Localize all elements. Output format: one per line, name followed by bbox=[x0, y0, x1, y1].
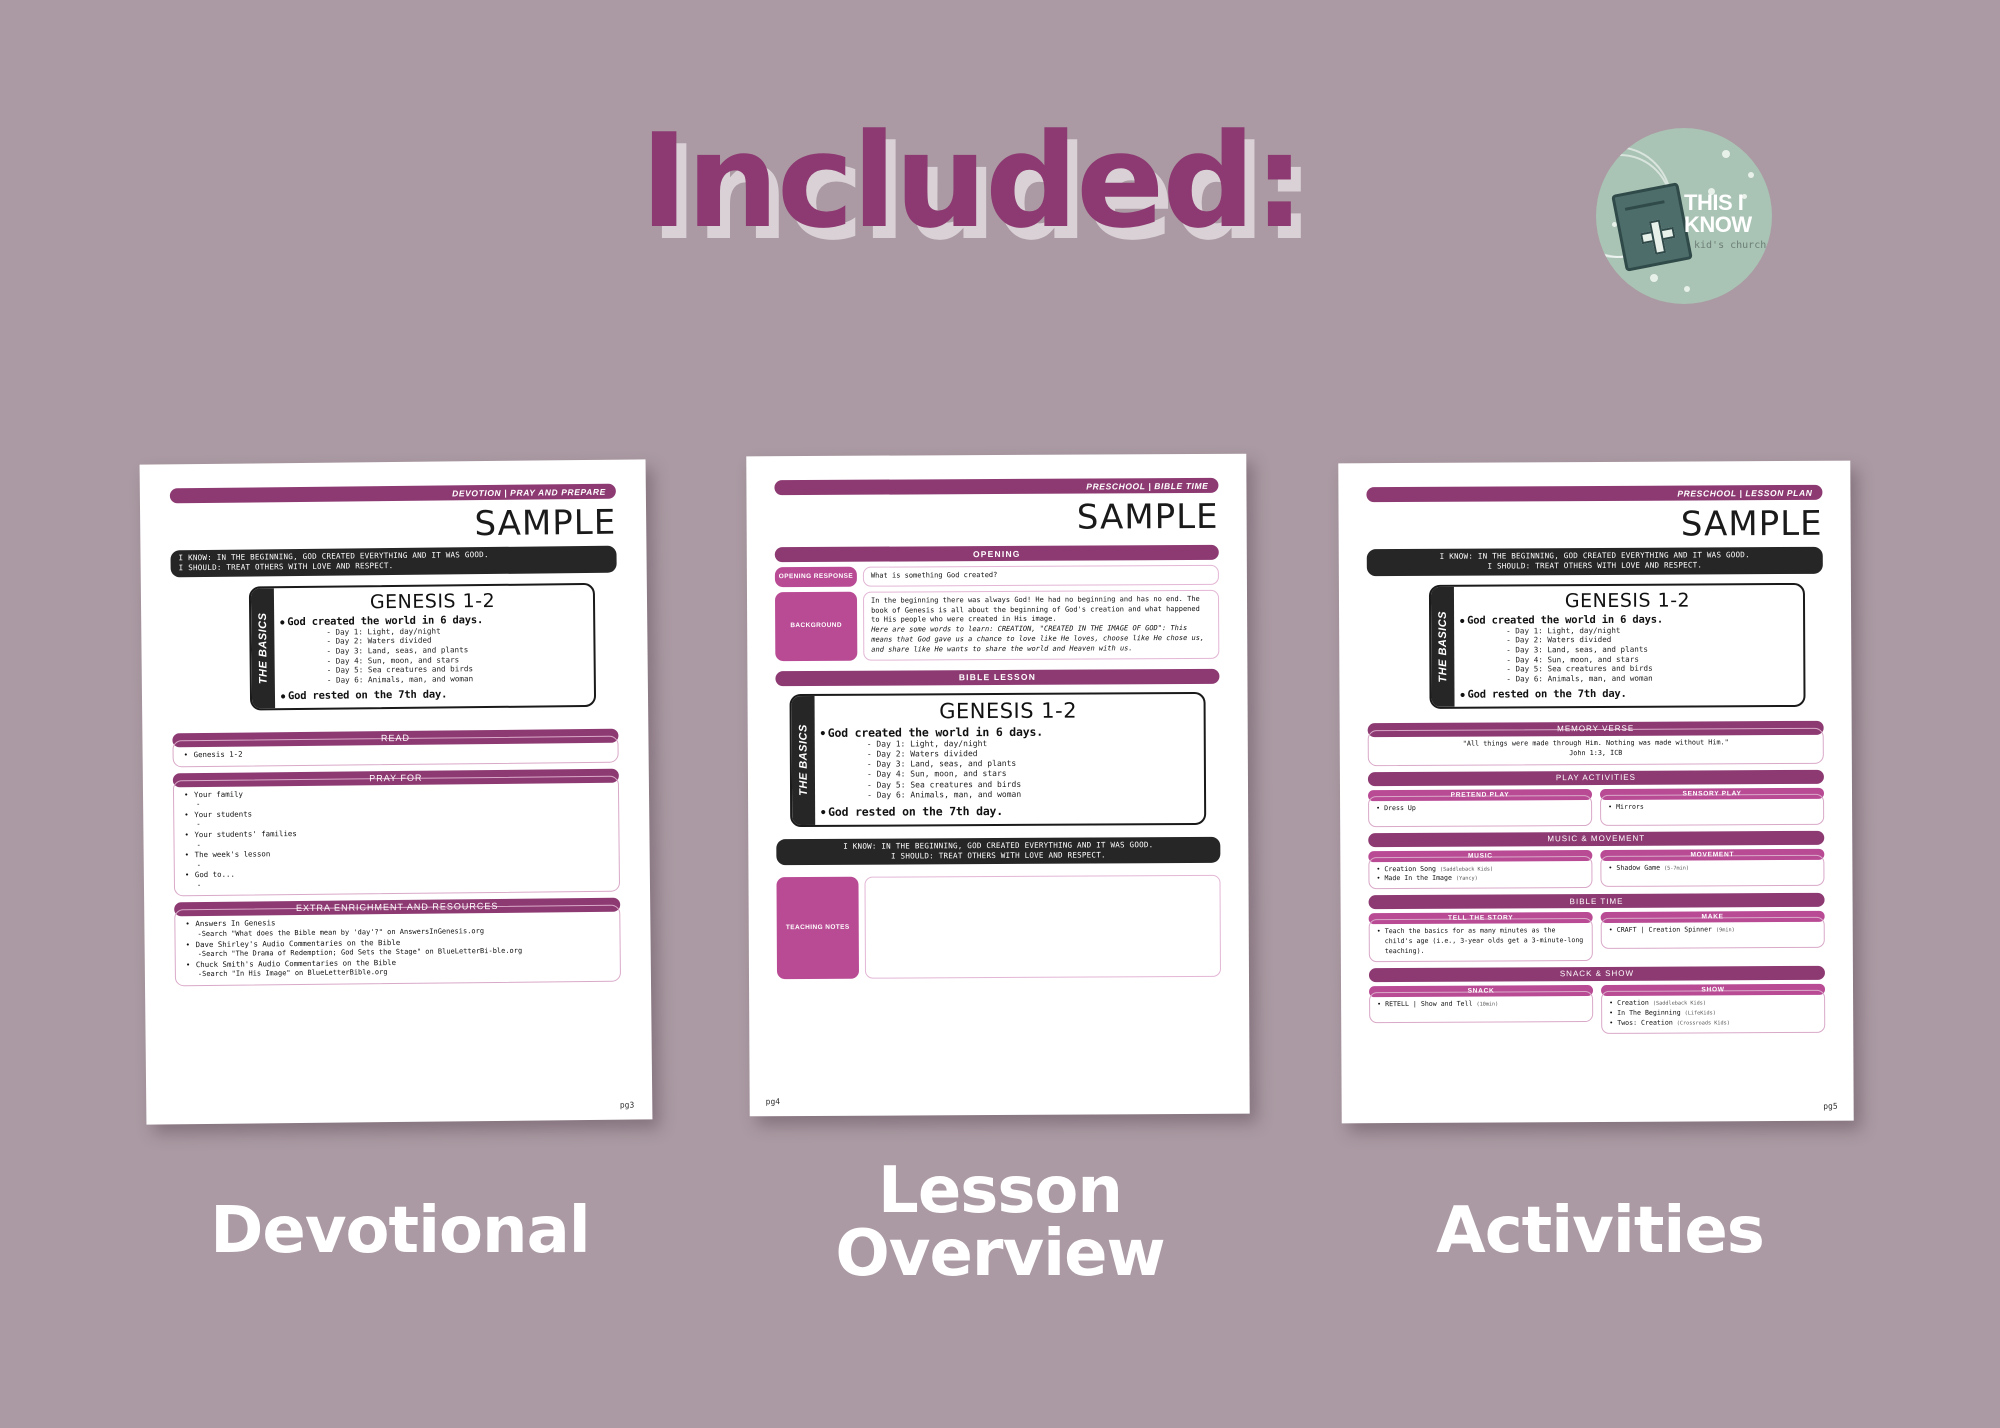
activity-text: RETELL | Show and Tell bbox=[1385, 1000, 1472, 1008]
activity-item: Twos: Creation (Crossroads Kids) bbox=[1608, 1018, 1818, 1029]
snack-column: SNACK RETELL | Show and Tell (10min) bbox=[1369, 985, 1593, 1035]
show-panel: Creation (Saddleback Kids) In The Beginn… bbox=[1601, 990, 1825, 1034]
pretend-play-panel: Dress Up bbox=[1368, 795, 1592, 827]
page2-basics-box: THE BASICS GENESIS 1-2 God created the w… bbox=[790, 691, 1207, 827]
make-panel: CRAFT | Creation Spinner (9min) bbox=[1601, 917, 1825, 949]
activity-item: RETELL | Show and Tell (10min) bbox=[1376, 999, 1586, 1010]
activity-note: (Saddleback Kids) bbox=[1653, 1000, 1706, 1006]
page2-page-number: pg4 bbox=[766, 1097, 781, 1106]
page-devotional[interactable]: DEVOTION | PRAY AND PREPARE SAMPLE I KNO… bbox=[140, 459, 653, 1124]
activity-text: Creation Song bbox=[1384, 864, 1436, 872]
basics-bullet-2: God rested on the 7th day. bbox=[281, 687, 586, 702]
section-music-movement: MUSIC & MOVEMENT MUSIC Creation Song (Sa… bbox=[1368, 830, 1824, 889]
basics-tab: THE BASICS bbox=[251, 588, 275, 709]
pretend-play-column: PRETEND PLAY Dress Up bbox=[1368, 789, 1592, 827]
basics-tab: THE BASICS bbox=[792, 696, 816, 826]
memory-verse-panel: "All things were made through Him. Nothi… bbox=[1368, 728, 1824, 766]
basics-bullet-2: God rested on the 7th day. bbox=[821, 803, 1196, 819]
activity-item: Dress Up bbox=[1375, 803, 1585, 814]
logo-dot bbox=[1722, 150, 1730, 158]
basics-day: - Day 6: Animals, man, and woman bbox=[867, 789, 1196, 801]
logo: THIS I KNOW kid's church bbox=[1596, 128, 1772, 304]
basics-title: GENESIS 1-2 bbox=[280, 589, 585, 614]
section-memory-verse: MEMORY VERSE "All things were made throu… bbox=[1368, 721, 1824, 766]
know-line-2: I SHOULD: TREAT OTHERS WITH LOVE AND RES… bbox=[1375, 560, 1815, 573]
sensory-play-panel: Mirrors bbox=[1600, 793, 1824, 825]
logo-line-3: kid's church bbox=[1694, 240, 1766, 251]
page2-sample-label: SAMPLE bbox=[775, 497, 1219, 539]
page1-header-bar: DEVOTION | PRAY AND PREPARE bbox=[170, 484, 616, 504]
activity-note: (Yancy) bbox=[1456, 876, 1478, 882]
teaching-notes-row: TEACHING NOTES bbox=[776, 875, 1221, 979]
opening-response-tag: OPENING RESPONSE bbox=[775, 567, 857, 587]
caption-devotional: Devotional bbox=[110, 1200, 690, 1263]
page3-basics-box: THE BASICS GENESIS 1-2 God created the w… bbox=[1429, 582, 1806, 708]
activity-text: In The Beginning bbox=[1617, 1008, 1681, 1016]
teaching-notes-tag: TEACHING NOTES bbox=[776, 877, 859, 979]
music-column: MUSIC Creation Song (Saddleback Kids) Ma… bbox=[1368, 850, 1592, 890]
section-bible-time: BIBLE TIME TELL THE STORY Teach the basi… bbox=[1369, 893, 1825, 962]
read-item: Genesis 1-2 bbox=[182, 746, 610, 761]
activity-note: (9min) bbox=[1716, 928, 1735, 934]
page3-header-bar: PRESCHOOL | LESSON PLAN bbox=[1366, 485, 1822, 502]
page3-page-number: pg5 bbox=[1823, 1102, 1838, 1111]
snack-panel: RETELL | Show and Tell (10min) bbox=[1369, 991, 1593, 1023]
background-tag: BACKGROUND bbox=[775, 592, 857, 661]
tell-the-story-panel: Teach the basics for as many minutes as … bbox=[1369, 918, 1593, 962]
activity-text: Shadow Game bbox=[1616, 863, 1660, 871]
page3-sample-label: SAMPLE bbox=[1367, 504, 1823, 546]
page1-basics-box: THE BASICS GENESIS 1-2 God created the w… bbox=[249, 582, 596, 710]
caption-lesson-line-2: Overview bbox=[730, 1223, 1270, 1286]
teaching-notes-field[interactable] bbox=[864, 875, 1221, 979]
activity-note: (Crossroads Kids) bbox=[1677, 1020, 1730, 1026]
opening-response-row: OPENING RESPONSE What is something God c… bbox=[775, 565, 1219, 587]
page-lesson-overview[interactable]: PRESCHOOL | BIBLE TIME SAMPLE OPENING OP… bbox=[746, 454, 1249, 1117]
snack-show-title: SNACK & SHOW bbox=[1369, 966, 1825, 982]
logo-dot bbox=[1748, 172, 1754, 178]
page-title: Included: bbox=[640, 105, 1303, 257]
activity-item: Shadow Game (5-7min) bbox=[1607, 862, 1817, 873]
basics-day: - Day 6: Animals, man, and woman bbox=[327, 673, 586, 685]
basics-tab-label: THE BASICS bbox=[257, 612, 270, 684]
activity-text: Mirrors bbox=[1616, 802, 1644, 810]
activity-note: (Saddleback Kids) bbox=[1440, 866, 1493, 872]
basics-title: GENESIS 1-2 bbox=[821, 698, 1196, 724]
opening-title: OPENING bbox=[775, 545, 1219, 562]
logo-dot bbox=[1650, 274, 1658, 282]
music-panel: Creation Song (Saddleback Kids) Made In … bbox=[1368, 856, 1592, 890]
activity-note: (10min) bbox=[1476, 1001, 1498, 1007]
page3-know-box: I KNOW: IN THE BEGINNING, GOD CREATED EV… bbox=[1367, 547, 1823, 576]
know-line-2: I SHOULD: TREAT OTHERS WITH LOVE AND RES… bbox=[784, 850, 1212, 862]
activity-note: (5-7min) bbox=[1664, 865, 1689, 871]
activity-note: (LifeKids) bbox=[1685, 1010, 1716, 1016]
basics-bullet-2: God rested on the 7th day. bbox=[1460, 687, 1795, 701]
activity-text: CRAFT | Creation Spinner bbox=[1617, 926, 1712, 934]
logo-line-2: KNOW bbox=[1684, 214, 1752, 236]
activity-text: Twos: Creation bbox=[1617, 1018, 1673, 1026]
page1-sample-label: SAMPLE bbox=[170, 503, 616, 548]
activity-text: Made In the Image bbox=[1384, 874, 1452, 882]
logo-line-1: THIS I bbox=[1684, 192, 1743, 214]
show-column: SHOW Creation (Saddleback Kids) In The B… bbox=[1601, 984, 1825, 1034]
section-snack-show: SNACK & SHOW SNACK RETELL | Show and Tel… bbox=[1369, 966, 1825, 1035]
enrichment-panel: Answers In Genesis -Search "What does th… bbox=[174, 905, 621, 986]
section-enrichment: EXTRA ENRICHMENT AND RESOURCES Answers I… bbox=[174, 898, 621, 986]
memory-verse-reference: John 1:3, ICB bbox=[1377, 748, 1815, 760]
basics-day: - Day 6: Animals, man, and woman bbox=[1506, 673, 1795, 684]
basics-tab-label: THE BASICS bbox=[1437, 611, 1449, 683]
caption-lesson-overview: Lesson Overview bbox=[730, 1160, 1270, 1285]
basics-tab: THE BASICS bbox=[1431, 586, 1455, 706]
background-field: In the beginning there was always God! H… bbox=[863, 590, 1219, 661]
bible-book-cross-icon bbox=[1611, 182, 1693, 272]
play-activities-title: PLAY ACTIVITIES bbox=[1368, 769, 1824, 785]
movement-column: MOVEMENT Shadow Game (5-7min) bbox=[1600, 848, 1824, 888]
make-column: MAKE CRAFT | Creation Spinner (9min) bbox=[1601, 911, 1825, 961]
caption-activities: Activities bbox=[1320, 1200, 1880, 1263]
activity-item: CRAFT | Creation Spinner (9min) bbox=[1608, 925, 1818, 936]
basics-title: GENESIS 1-2 bbox=[1460, 588, 1795, 612]
sensory-play-column: SENSORY PLAY Mirrors bbox=[1600, 787, 1824, 825]
activity-item: Made In the Image (Yancy) bbox=[1375, 873, 1585, 884]
activity-item: Mirrors bbox=[1607, 801, 1817, 812]
page1-page-number: pg3 bbox=[620, 1101, 635, 1110]
logo-dot bbox=[1684, 286, 1690, 292]
header: Included: THIS I KNOW kid's church bbox=[0, 0, 2000, 330]
page1-know-box: I KNOW: IN THE BEGINNING, GOD CREATED EV… bbox=[170, 546, 616, 577]
bible-time-title: BIBLE TIME bbox=[1369, 893, 1825, 909]
section-play-activities: PLAY ACTIVITIES PRETEND PLAY Dress Up SE… bbox=[1368, 769, 1824, 826]
bible-lesson-title: BIBLE LESSON bbox=[775, 668, 1219, 685]
page2-header-bar: PRESCHOOL | BIBLE TIME bbox=[774, 478, 1218, 495]
movement-panel: Shadow Game (5-7min) bbox=[1600, 854, 1824, 886]
page2-know-box: I KNOW: IN THE BEGINNING, GOD CREATED EV… bbox=[776, 837, 1220, 866]
section-pray-for: PRAY FOR Your family - Your students - Y… bbox=[173, 768, 620, 897]
background-italic: Here are some words to learn: CREATION, … bbox=[871, 624, 1211, 655]
basics-tab-label: THE BASICS bbox=[797, 724, 809, 796]
music-movement-title: MUSIC & MOVEMENT bbox=[1368, 830, 1824, 846]
activity-item: Teach the basics for as many minutes as … bbox=[1376, 926, 1586, 957]
opening-response-field[interactable]: What is something God created? bbox=[863, 565, 1219, 587]
background-text: In the beginning there was always God! H… bbox=[871, 595, 1200, 624]
pray-for-panel: Your family - Your students - Your stude… bbox=[173, 775, 620, 897]
background-row: BACKGROUND In the beginning there was al… bbox=[775, 590, 1219, 661]
activity-text: Teach the basics for as many minutes as … bbox=[1385, 926, 1584, 955]
tell-the-story-column: TELL THE STORY Teach the basics for as m… bbox=[1369, 912, 1593, 962]
caption-lesson-line-1: Lesson bbox=[730, 1160, 1270, 1223]
activity-text: Dress Up bbox=[1384, 803, 1416, 811]
section-read: READ Genesis 1-2 bbox=[172, 728, 618, 766]
page-activities[interactable]: PRESCHOOL | LESSON PLAN SAMPLE I KNOW: I… bbox=[1338, 461, 1853, 1124]
activity-text: Creation bbox=[1617, 999, 1649, 1007]
